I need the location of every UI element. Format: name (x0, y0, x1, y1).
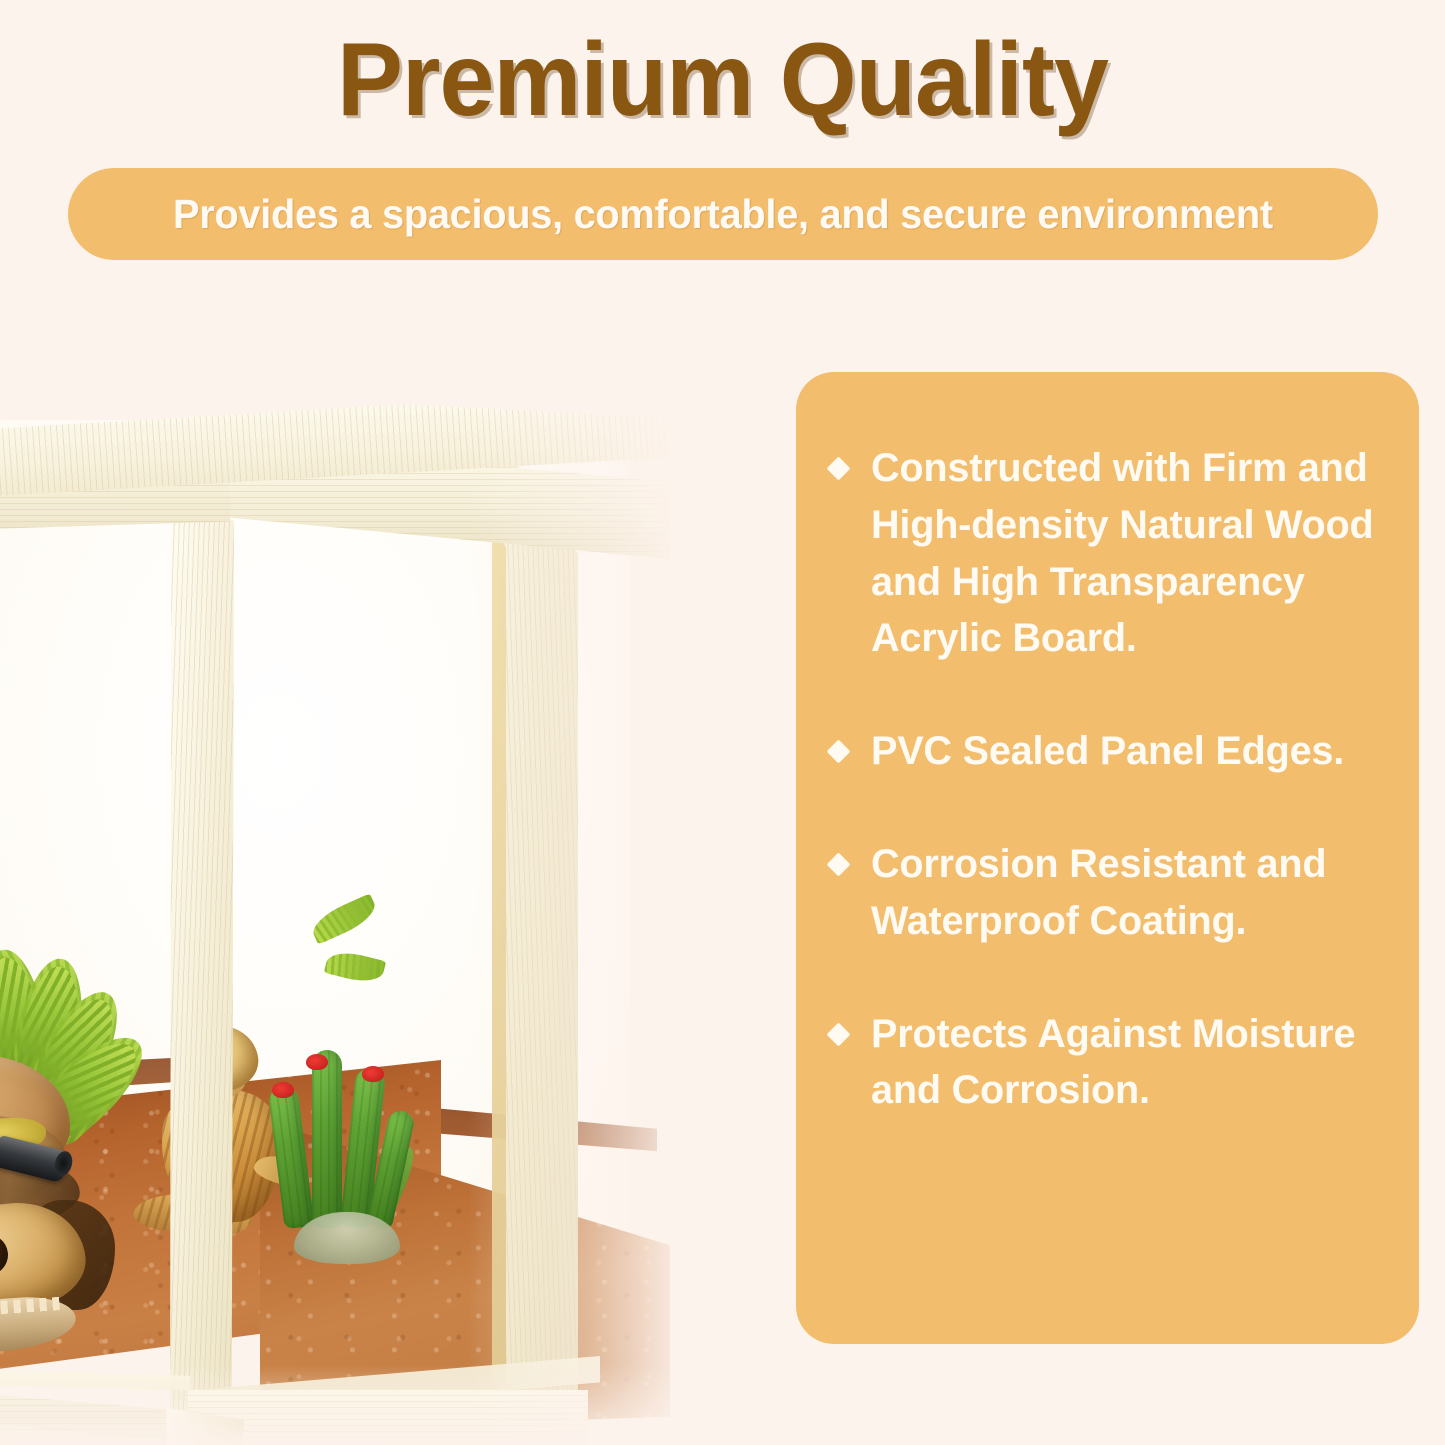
cactus-flower (306, 1054, 328, 1070)
product-photo (0, 300, 700, 1445)
list-item: Corrosion Resistant and Waterproof Coati… (830, 836, 1385, 950)
subtitle-banner: Provides a spacious, comfortable, and se… (68, 168, 1378, 260)
diamond-bullet-icon (826, 1022, 850, 1046)
acrylic-glazing-bead (492, 516, 508, 1416)
feature-bullet-list: Constructed with Firm and High-density N… (830, 440, 1385, 1119)
list-item: PVC Sealed Panel Edges. (830, 723, 1385, 780)
diamond-bullet-icon (826, 852, 850, 876)
cactus-plant (270, 1040, 430, 1270)
feature-text: Corrosion Resistant and Waterproof Coati… (871, 836, 1380, 950)
list-item: Protects Against Moisture and Corrosion. (830, 1006, 1385, 1120)
subtitle-text: Provides a spacious, comfortable, and se… (173, 191, 1273, 238)
terrarium-illustration (0, 300, 700, 1445)
cactus-arm (267, 1085, 314, 1230)
diamond-bullet-icon (826, 456, 850, 480)
feature-text: Protects Against Moisture and Corrosion. (871, 1006, 1380, 1120)
list-item: Constructed with Firm and High-density N… (830, 440, 1385, 667)
feature-panel: Constructed with Firm and High-density N… (796, 372, 1419, 1344)
wood-rail-bottom-right (188, 1390, 588, 1445)
page-title: Premium Quality (36, 28, 1409, 132)
cactus-flower (272, 1082, 294, 1098)
feature-text: Constructed with Firm and High-density N… (871, 440, 1380, 667)
diamond-bullet-icon (826, 740, 850, 764)
cactus-arm (312, 1050, 342, 1228)
feature-text: PVC Sealed Panel Edges. (871, 723, 1380, 780)
sprig-leaf (324, 947, 387, 986)
wood-post-front-corner (170, 490, 234, 1445)
sprig-leaf (308, 893, 381, 944)
wood-post-right (506, 448, 578, 1445)
infographic-page: Premium Quality Provides a spacious, com… (0, 0, 1445, 1445)
cactus-flower (362, 1066, 384, 1082)
fern-sprig (300, 900, 420, 1030)
